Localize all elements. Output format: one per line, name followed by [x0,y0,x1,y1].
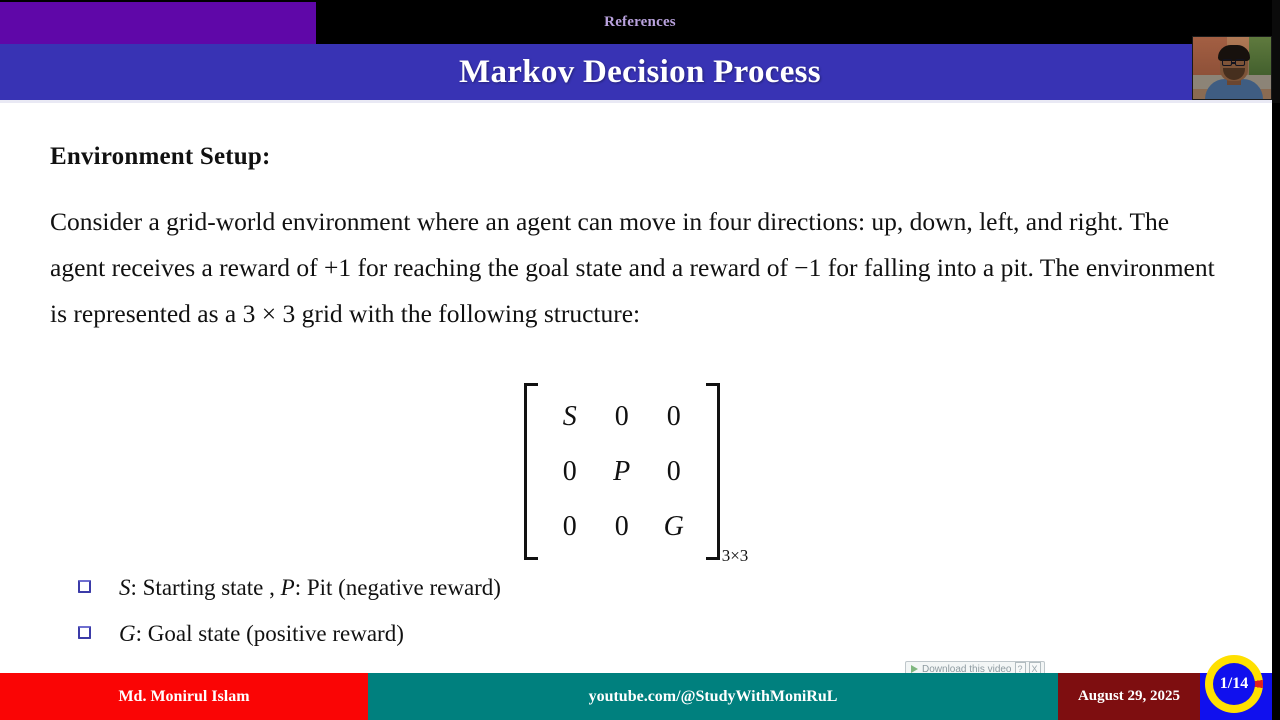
matrix-right-bracket [706,383,720,560]
section-heading: Environment Setup: [50,143,271,171]
slide-title-text: Markov Decision Process [459,54,821,91]
matrix-cell-2-2: G [664,513,684,541]
page-ring-inner: 1/14 [1213,663,1255,705]
bullet-symbol-s: S [119,575,131,600]
square-bullet-icon [78,580,91,593]
play-icon [911,665,918,673]
slide-footer: Md. Monirul Islam youtube.com/@StudyWith… [0,673,1272,720]
matrix-dimension-subscript: 3×3 [722,546,749,566]
bullet-text-part-1: : Starting state , [131,575,281,600]
bullet-text: S: Starting state , P: Pit (negative rew… [119,575,501,601]
presentation-slide: References Markov Decision Process Envir… [0,0,1280,720]
bullet-text-part-1: : Goal state (positive reward) [136,621,404,646]
matrix-cell-0-1: 0 [615,403,629,431]
grid-matrix-figure: S 0 0 0 P 0 0 0 G 3×3 [0,383,1272,560]
footer-channel-link[interactable]: youtube.com/@StudyWithMoniRuL [368,673,1058,720]
footer-channel-label: youtube.com/@StudyWithMoniRuL [589,688,838,706]
right-edge-strip [1272,0,1280,720]
slide-title: Markov Decision Process [0,44,1280,100]
right-edge-top-strip [1272,0,1280,103]
presenter-webcam-thumbnail[interactable] [1192,36,1272,100]
matrix-cell-1-2: 0 [667,458,681,486]
bullet-symbol-g: G [119,621,136,646]
legend-bullet-list: S: Starting state , P: Pit (negative rew… [78,575,1078,667]
bullet-text: G: Goal state (positive reward) [119,621,404,647]
bullet-symbol-p: P [281,575,295,600]
matrix-cell-1-0: 0 [563,458,577,486]
matrix-grid: S 0 0 0 P 0 0 0 G [538,383,706,560]
square-bullet-icon [78,626,91,639]
list-item: G: Goal state (positive reward) [78,621,1078,647]
footer-date-label: August 29, 2025 [1078,688,1180,705]
footer-author: Md. Monirul Islam [0,673,368,720]
webcam-glasses-left-lens [1222,59,1232,66]
page-indicator: 1/14 [1205,655,1263,713]
matrix-cell-1-1: P [613,458,630,486]
webcam-glasses-right-lens [1235,59,1245,66]
slide-content: Environment Setup: Consider a grid-world… [0,103,1272,673]
matrix-cell-2-1: 0 [615,513,629,541]
nav-item-references[interactable]: References [0,0,1280,44]
body-paragraph: Consider a grid-world environment where … [50,199,1222,337]
footer-author-label: Md. Monirul Islam [118,688,249,706]
footer-date: August 29, 2025 [1058,673,1200,720]
matrix-cell-0-0: S [563,403,577,431]
matrix-left-bracket [524,383,538,560]
webcam-glasses-bridge [1232,62,1235,64]
matrix: S 0 0 0 P 0 0 0 G 3×3 [524,383,749,560]
list-item: S: Starting state , P: Pit (negative rew… [78,575,1078,601]
nav-references-label: References [604,14,676,31]
page-number-label: 1/14 [1220,675,1248,693]
matrix-cell-2-0: 0 [563,513,577,541]
matrix-cell-0-2: 0 [667,403,681,431]
bullet-text-part-2: : Pit (negative reward) [295,575,501,600]
